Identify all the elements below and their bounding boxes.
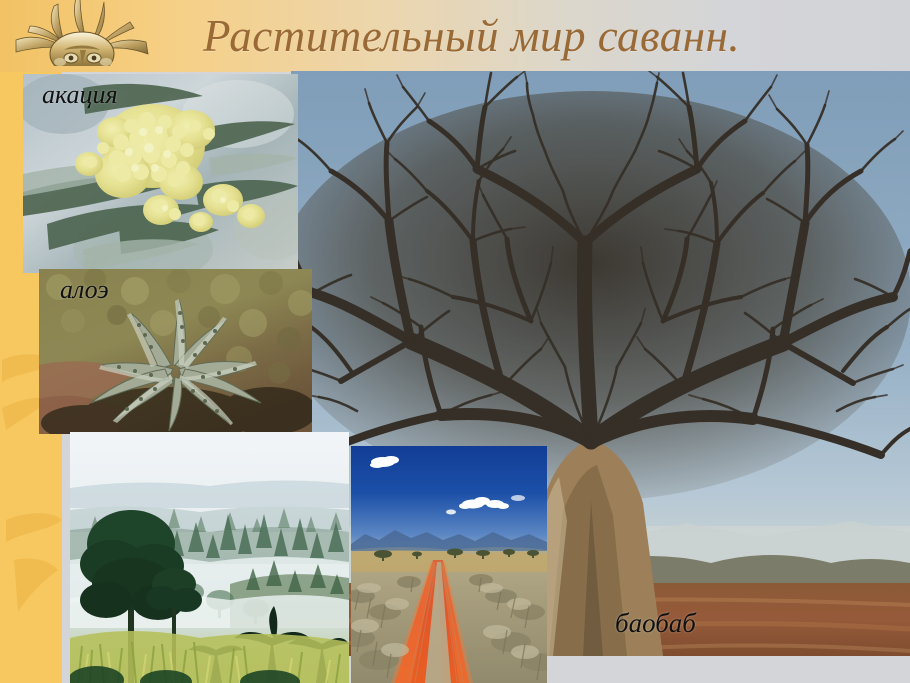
slide-canvas: акация bbox=[0, 0, 910, 683]
photo-savanna-road bbox=[351, 446, 547, 683]
caption-acacia: акация bbox=[42, 80, 118, 110]
photo-aloe: алоэ bbox=[39, 269, 312, 434]
caption-baobab: баобаб bbox=[615, 608, 696, 639]
caption-aloe: алоэ bbox=[60, 275, 109, 305]
photo-acacia: акация bbox=[23, 74, 298, 273]
photo-misty-landscape bbox=[70, 432, 349, 683]
sun-face-ornament-icon bbox=[14, 0, 154, 66]
page-title: Растительный мир саванн. bbox=[203, 5, 740, 67]
